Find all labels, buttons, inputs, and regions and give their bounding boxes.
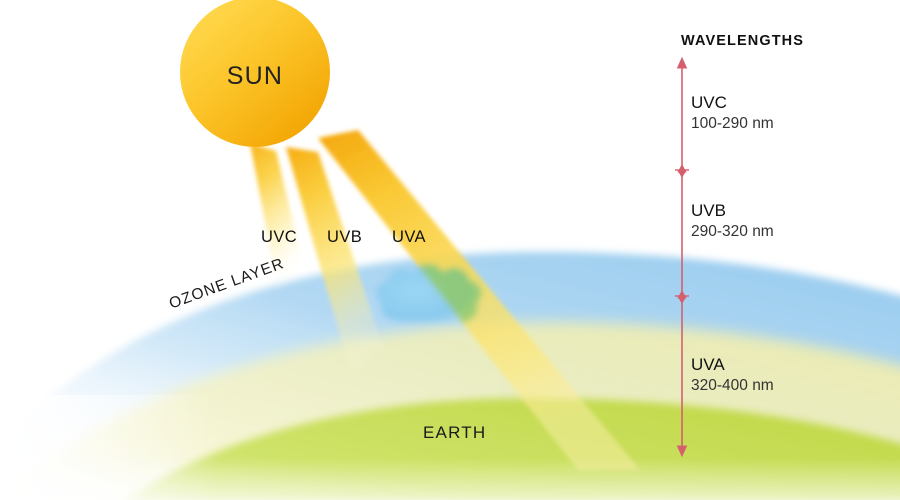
wavelength-band-uva: UVA 320-400 nm xyxy=(691,354,774,396)
wavelengths-title: WAVELENGTHS xyxy=(681,33,804,49)
band-uvb-range: 290-320 nm xyxy=(691,221,774,242)
ray-label-uva: UVA xyxy=(392,228,426,247)
band-uva-name: UVA xyxy=(691,354,774,375)
scale-divider-uvb-uva xyxy=(675,291,689,303)
sun-label: SUN xyxy=(197,62,313,91)
ray-label-uvc: UVC xyxy=(261,228,297,247)
earth-label: EARTH xyxy=(423,423,486,443)
wavelength-band-uvb: UVB 290-320 nm xyxy=(691,200,774,242)
band-uvc-range: 100-290 nm xyxy=(691,113,774,134)
scale-arrow-bottom xyxy=(678,446,687,456)
scale-divider-uvc-uvb xyxy=(675,165,689,177)
diagram-canvas: SUN UVC UVB UVA OZONE LAYER EARTH WAVELE… xyxy=(0,0,900,500)
wavelength-band-uvc: UVC 100-290 nm xyxy=(691,92,774,134)
band-uvc-name: UVC xyxy=(691,92,774,113)
scale-arrow-top xyxy=(678,58,687,68)
ray-label-uvb: UVB xyxy=(327,228,362,247)
band-uvb-name: UVB xyxy=(691,200,774,221)
band-uva-range: 320-400 nm xyxy=(691,375,774,396)
